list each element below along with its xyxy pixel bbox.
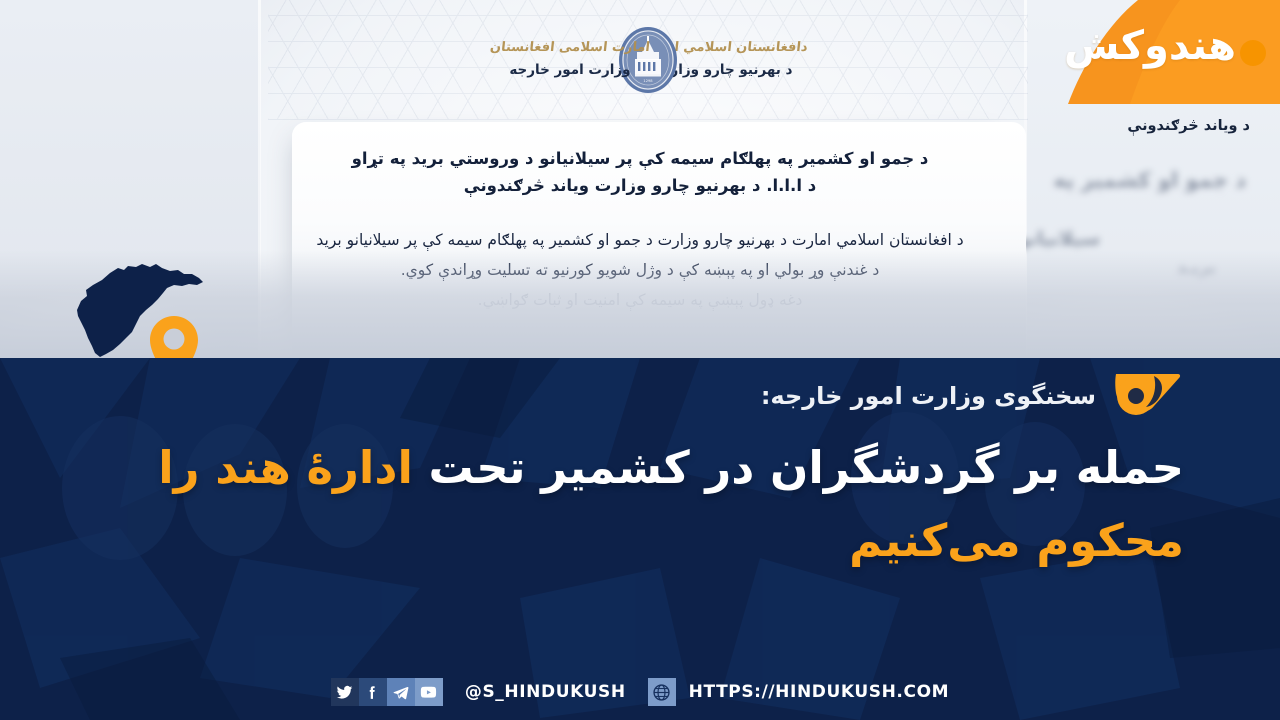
brand-name-text: هندوکش bbox=[1064, 26, 1236, 66]
news-card-stage: د جمو او کشمیر په سیلانیانو بریـد دافغان… bbox=[0, 0, 1280, 720]
news-kicker-text: سخنگوی وزارت امور خارجه: bbox=[761, 382, 1096, 410]
website-url-text: HTTPS://HINDUKUSH.COM bbox=[689, 682, 949, 702]
social-icon-group bbox=[331, 678, 443, 706]
headline-segment-white: حمله بر گردشگران در کشمیر تحت bbox=[413, 441, 1184, 494]
document-letterhead: دافغانستان اسلامي امارت د بهرنیو چارو وز… bbox=[268, 0, 1028, 120]
hindukush-comma-mark bbox=[1110, 366, 1184, 426]
document-title: د جمو او کشمیر په پهلګام سیمه کې پر سیلا… bbox=[30, 145, 1250, 199]
document-title-line: د جمو او کشمیر په پهلګام سیمه کې پر سیلا… bbox=[30, 145, 1250, 172]
social-handle[interactable]: @S_HINDUKUSH bbox=[465, 682, 626, 702]
footer-bar: @S_HINDUKUSH HTTPS://HINDUKUSH.COM bbox=[0, 678, 1280, 706]
telegram-icon[interactable] bbox=[387, 678, 415, 706]
document-title-line: د ا.ا.ا. د بهرنیو چارو وزارت ویاند څرګند… bbox=[30, 172, 1250, 199]
letterhead-block-dari: امارت اسلامی افغانستان وزارت امور خارجه bbox=[490, 40, 650, 78]
svg-text:1298: 1298 bbox=[643, 79, 653, 83]
letterhead-ministry-name: وزارت امور خارجه bbox=[490, 62, 650, 78]
globe-icon bbox=[648, 678, 676, 706]
youtube-icon[interactable] bbox=[415, 678, 443, 706]
brand-dot-mark bbox=[1240, 40, 1266, 66]
brand-logo[interactable]: هندوکش bbox=[1060, 0, 1280, 104]
letterhead-calligraphy: امارت اسلامی افغانستان bbox=[489, 40, 650, 55]
document-kicker: د ویاند څرګندونې bbox=[1127, 118, 1250, 134]
news-headline: حمله بر گردشگران در کشمیر تحت ادارۀ هند … bbox=[110, 432, 1184, 578]
facebook-icon[interactable] bbox=[359, 678, 387, 706]
website-link[interactable]: HTTPS://HINDUKUSH.COM bbox=[648, 678, 949, 706]
news-kicker-row: سخنگوی وزارت امور خارجه: bbox=[761, 366, 1184, 426]
document-body-line: د افغانستان اسلامي امارت د بهرنیو چارو و… bbox=[28, 225, 1252, 255]
twitter-icon[interactable] bbox=[331, 678, 359, 706]
